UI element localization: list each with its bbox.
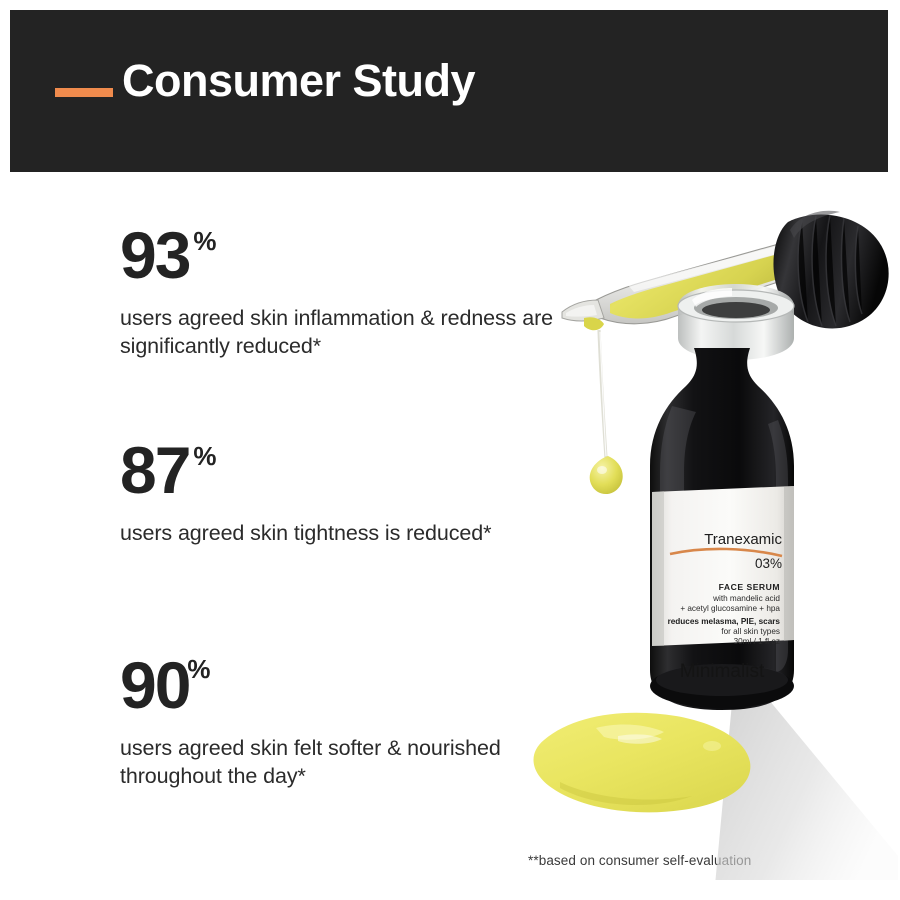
label-line-2: + acetyl glucosamine + hpa (680, 604, 780, 613)
label-brand-name: Minimalist (680, 661, 765, 682)
oil-puddle (534, 713, 751, 813)
stat-description: users agreed skin inflammation & redness… (120, 304, 560, 361)
stat-description: users agreed skin felt softer & nourishe… (120, 734, 560, 791)
stat-description: users agreed skin tightness is reduced* (120, 519, 560, 547)
label-line-3: reduces melasma, PIE, scars (668, 617, 781, 626)
stat-value: 90 (120, 648, 189, 722)
marketing-image-canvas: Consumer Study 93% users agreed skin inf… (0, 0, 900, 900)
label-active-ingredient: Tranexamic (704, 531, 782, 548)
product-photo: Tranexamic 03% FACE SERUM with mandelic … (500, 180, 900, 880)
page-title: Consumer Study (122, 58, 475, 103)
percent-symbol: % (187, 654, 210, 684)
serum-bottle: Tranexamic 03% FACE SERUM with mandelic … (650, 348, 794, 710)
stat-value: 93 (120, 218, 189, 292)
percent-symbol: % (193, 226, 216, 256)
label-concentration: 03% (755, 556, 782, 571)
label-line-1: with mandelic acid (712, 594, 780, 603)
label-line-4: for all skin types (721, 627, 780, 636)
label-product-type: FACE SERUM (719, 582, 780, 592)
header-bar: Consumer Study (10, 10, 888, 172)
accent-dash-icon (55, 88, 113, 97)
percent-symbol: % (193, 441, 216, 471)
label-line-5: 30ml / 1 fl oz (734, 637, 780, 646)
serum-droplet (590, 330, 623, 494)
stat-value: 87 (120, 433, 189, 507)
